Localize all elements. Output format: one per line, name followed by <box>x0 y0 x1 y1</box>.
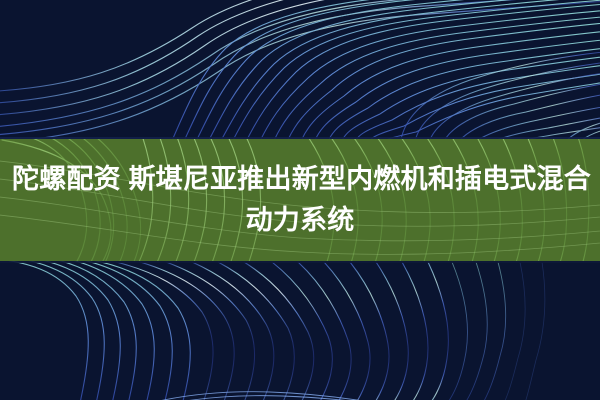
headline-line-1: 陀螺配资 斯堪尼亚推出新型内燃机和插电式混合 <box>12 159 591 200</box>
headline-block: 陀螺配资 斯堪尼亚推出新型内燃机和插电式混合 动力系统 <box>0 139 600 261</box>
headline-line-2: 动力系统 <box>246 200 355 241</box>
banner-image: 陀螺配资 斯堪尼亚推出新型内燃机和插电式混合 动力系统 <box>0 0 600 400</box>
